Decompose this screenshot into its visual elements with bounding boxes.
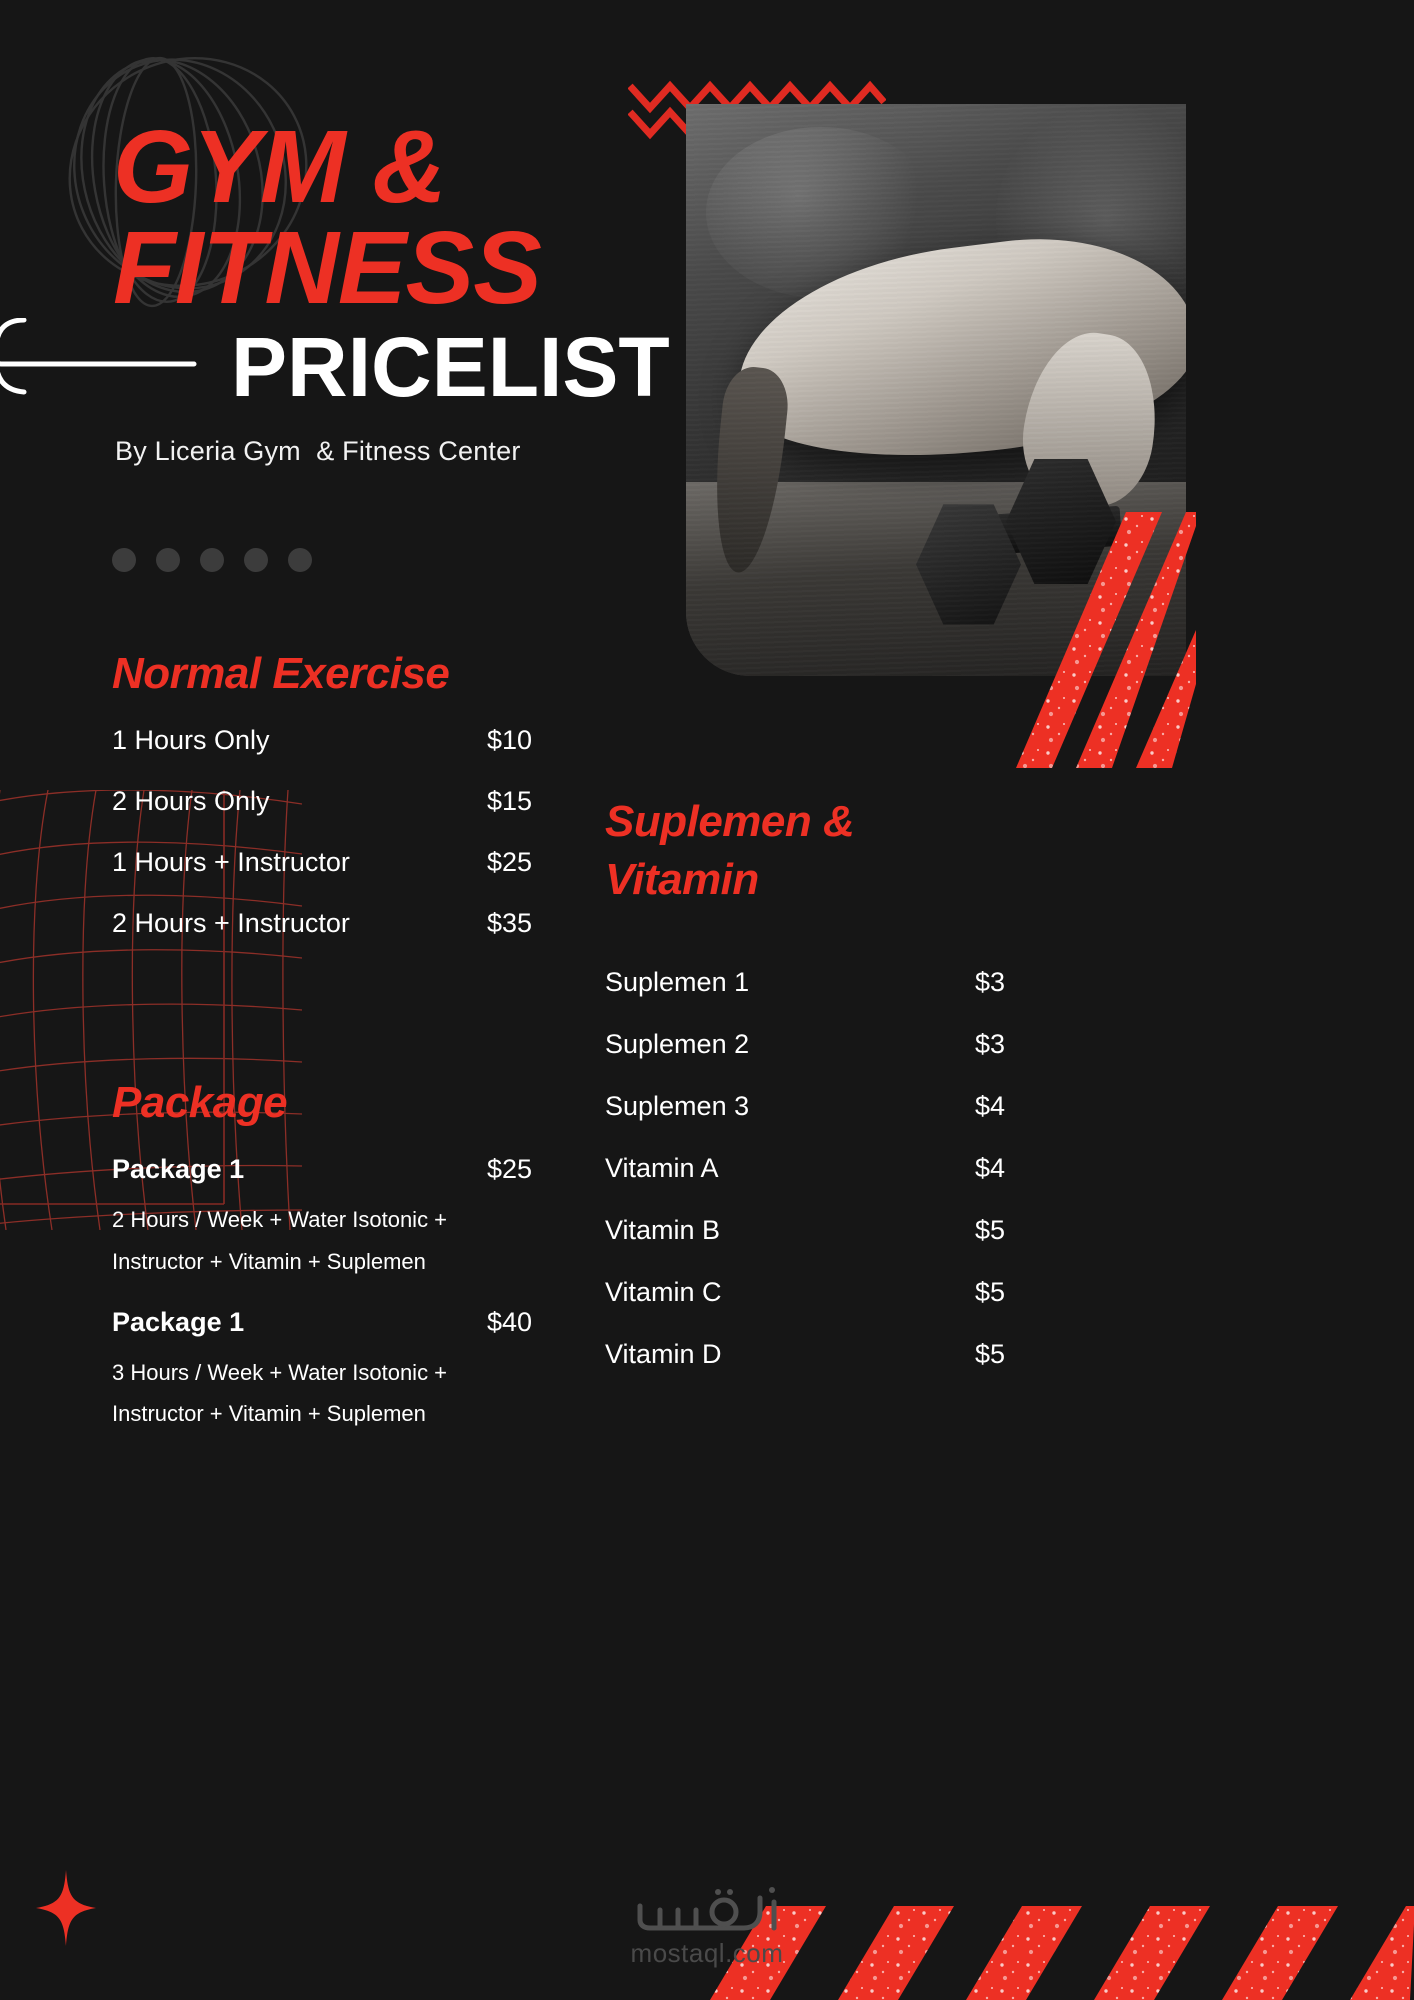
dot bbox=[200, 548, 224, 572]
section-title-normal-exercise: Normal Exercise bbox=[112, 645, 532, 703]
pricelist-poster: GYM & FITNESS PRICELIST By Liceria Gym &… bbox=[0, 0, 1414, 2000]
title-line-3: PRICELIST bbox=[231, 325, 753, 409]
section-title-line-2: Vitamin bbox=[605, 851, 945, 909]
item-price: $25 bbox=[432, 847, 532, 878]
item-price: $4 bbox=[915, 1153, 1005, 1184]
list-item: Package 1 $40 3 Hours / Week + Water Iso… bbox=[112, 1307, 532, 1436]
item-description: 2 Hours / Week + Water Isotonic + Instru… bbox=[112, 1199, 527, 1283]
section-package: Package Package 1 $25 2 Hours / Week + W… bbox=[112, 1074, 532, 1459]
item-price: $5 bbox=[915, 1339, 1005, 1370]
list-item: 2 Hours + Instructor $35 bbox=[112, 908, 532, 969]
watermark-text: mostaql.com bbox=[631, 1938, 784, 1969]
list-item: Vitamin D $5 bbox=[605, 1339, 1005, 1401]
item-price: $3 bbox=[915, 1029, 1005, 1060]
item-name: Suplemen 2 bbox=[605, 1029, 915, 1060]
suplemen-vitamin-list: Suplemen 1 $3 Suplemen 2 $3 Suplemen 3 $… bbox=[605, 967, 1005, 1401]
section-suplemen-vitamin: Suplemen & Vitamin Suplemen 1 $3 Supleme… bbox=[605, 793, 1005, 1401]
item-price: $5 bbox=[915, 1277, 1005, 1308]
item-price: $3 bbox=[915, 967, 1005, 998]
list-item: 1 Hours + Instructor $25 bbox=[112, 847, 532, 908]
item-name: Vitamin A bbox=[605, 1153, 915, 1184]
item-name: 1 Hours Only bbox=[112, 725, 432, 756]
list-item: Suplemen 1 $3 bbox=[605, 967, 1005, 1029]
dot bbox=[288, 548, 312, 572]
mostaql-logo-icon bbox=[632, 1884, 782, 1936]
dot bbox=[244, 548, 268, 572]
dots-decoration bbox=[112, 548, 312, 572]
item-name: Vitamin D bbox=[605, 1339, 915, 1370]
list-item: Package 1 $25 2 Hours / Week + Water Iso… bbox=[112, 1154, 532, 1283]
item-name: 2 Hours Only bbox=[112, 786, 432, 817]
list-item: 2 Hours Only $15 bbox=[112, 786, 532, 847]
item-name: Package 1 bbox=[112, 1307, 432, 1338]
item-name: Package 1 bbox=[112, 1154, 432, 1185]
list-item: Vitamin C $5 bbox=[605, 1277, 1005, 1339]
list-item: Suplemen 3 $4 bbox=[605, 1091, 1005, 1153]
list-item: Vitamin A $4 bbox=[605, 1153, 1005, 1215]
section-title-package: Package bbox=[112, 1074, 532, 1132]
red-diagonal-stripes-bottom-icon bbox=[710, 1906, 1414, 2000]
item-name: 1 Hours + Instructor bbox=[112, 847, 432, 878]
item-price: $5 bbox=[915, 1215, 1005, 1246]
subtitle: By Liceria Gym & Fitness Center bbox=[115, 436, 521, 467]
item-price: $35 bbox=[432, 908, 532, 939]
item-name: Suplemen 3 bbox=[605, 1091, 915, 1122]
title-line-1: GYM & bbox=[113, 117, 753, 218]
dot bbox=[156, 548, 180, 572]
item-name: Suplemen 1 bbox=[605, 967, 915, 998]
pushup-dumbbell-photo bbox=[686, 104, 1186, 676]
package-list: Package 1 $25 2 Hours / Week + Water Iso… bbox=[112, 1154, 532, 1435]
item-price: $40 bbox=[432, 1307, 532, 1338]
item-name: Vitamin B bbox=[605, 1215, 915, 1246]
section-title-suplemen-vitamin: Suplemen & Vitamin bbox=[605, 793, 945, 909]
item-price: $25 bbox=[432, 1154, 532, 1185]
section-title-line-1: Suplemen & bbox=[605, 793, 945, 851]
item-price: $4 bbox=[915, 1091, 1005, 1122]
title-line-2: FITNESS bbox=[113, 218, 753, 319]
item-description: 3 Hours / Week + Water Isotonic + Instru… bbox=[112, 1352, 527, 1436]
section-normal-exercise: Normal Exercise 1 Hours Only $10 2 Hours… bbox=[112, 645, 532, 969]
item-name: Vitamin C bbox=[605, 1277, 915, 1308]
page-title: GYM & FITNESS PRICELIST bbox=[113, 117, 753, 409]
item-price: $15 bbox=[432, 786, 532, 817]
list-item: Suplemen 2 $3 bbox=[605, 1029, 1005, 1091]
four-point-star-icon bbox=[34, 1870, 98, 1946]
normal-exercise-list: 1 Hours Only $10 2 Hours Only $15 1 Hour… bbox=[112, 725, 532, 969]
item-name: 2 Hours + Instructor bbox=[112, 908, 432, 939]
dot bbox=[112, 548, 136, 572]
item-price: $10 bbox=[432, 725, 532, 756]
watermark: mostaql.com bbox=[0, 1884, 1414, 1969]
list-item: Vitamin B $5 bbox=[605, 1215, 1005, 1277]
list-item: 1 Hours Only $10 bbox=[112, 725, 532, 786]
